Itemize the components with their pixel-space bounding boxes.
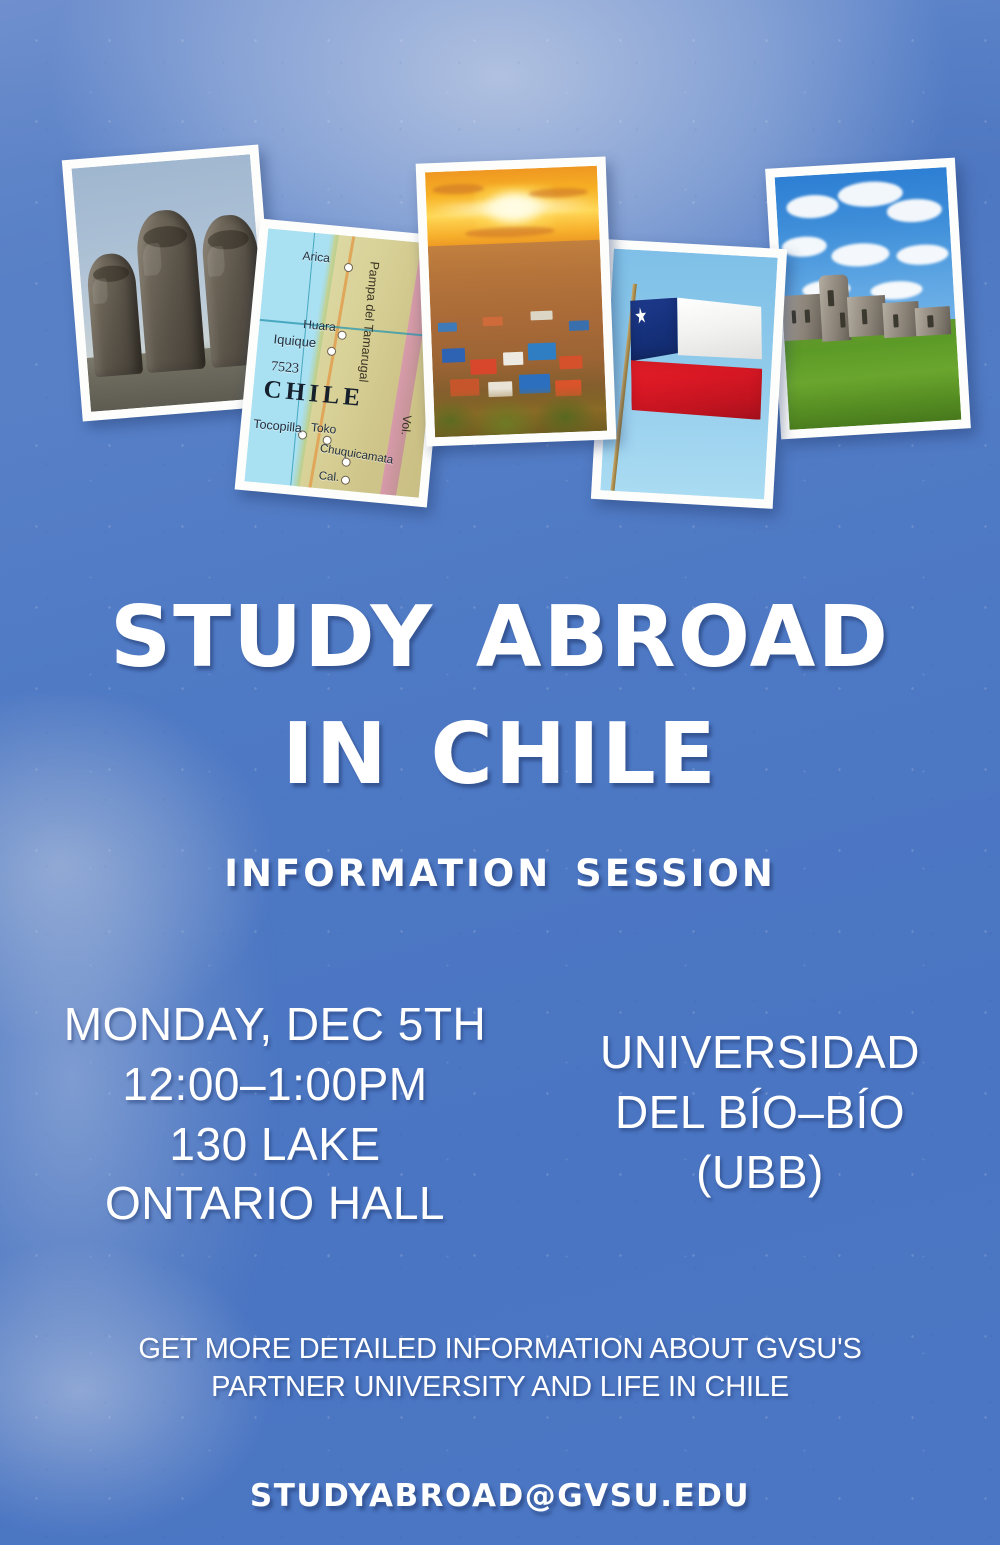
flag-blue-canton: [630, 297, 678, 361]
blurb-line2: PARTNER UNIVERSITY AND LIFE IN CHILE: [60, 1368, 940, 1406]
event-details-right: UNIVERSIDAD DEL BÍO–BÍO (UBB): [560, 995, 960, 1202]
castle-window: [893, 314, 899, 327]
city-house: [470, 358, 496, 374]
city-house: [559, 355, 582, 369]
city-house: [438, 322, 457, 332]
castle-window: [928, 315, 934, 328]
partner-university-line1: UNIVERSIDAD: [560, 1023, 960, 1083]
photo-valparaiso-cityscape: [416, 156, 617, 446]
city-house: [442, 348, 465, 362]
castle-tower-main: [818, 274, 851, 341]
photo-chilean-flag: [591, 239, 787, 509]
map-label-huara: Huara: [303, 317, 337, 334]
map-label-arica: Arica: [302, 248, 331, 265]
event-details-left: MONDAY, DEC 5TH 12:00–1:00PM 130 LAKE ON…: [40, 995, 510, 1234]
map-label-toko: Toko: [310, 420, 337, 436]
flag-white-band: [677, 296, 762, 362]
poster-title-line2: IN CHILE: [0, 712, 1000, 797]
blurb-line1: GET MORE DETAILED INFORMATION ABOUT GVSU…: [60, 1330, 940, 1368]
partner-university-abbr: (UBB): [560, 1143, 960, 1203]
event-time: 12:00–1:00PM: [40, 1055, 510, 1115]
castle-wall-middle: [847, 295, 887, 338]
poster-subtitle: INFORMATION SESSION: [0, 852, 1000, 895]
city-house: [530, 310, 553, 320]
city-house: [482, 316, 503, 326]
city-vegetation: [428, 385, 607, 438]
partner-university-line2: DEL BÍO–BÍO: [560, 1083, 960, 1143]
castle-photo-content: [775, 167, 962, 430]
castle-window: [828, 290, 834, 305]
poster-blurb: GET MORE DETAILED INFORMATION ABOUT GVSU…: [60, 1330, 940, 1407]
map-volcano-label: Vol.: [398, 414, 414, 435]
event-building: ONTARIO HALL: [40, 1174, 510, 1234]
city-house: [528, 343, 556, 361]
event-room: 130 LAKE: [40, 1115, 510, 1175]
flag-star-icon: [634, 306, 648, 325]
event-date: MONDAY, DEC 5TH: [40, 995, 510, 1055]
map-dot-arica: [343, 262, 353, 272]
castle-wall-left: [778, 294, 825, 342]
castle-window: [840, 313, 846, 328]
city-house: [568, 321, 589, 331]
poster-title-line1: STUDY ABROAD: [0, 595, 1000, 680]
flag-photo-content: [600, 249, 777, 500]
flag-cloth: [630, 296, 763, 419]
event-details: MONDAY, DEC 5TH 12:00–1:00PM 130 LAKE ON…: [40, 995, 960, 1234]
flag-red-band: [631, 354, 763, 421]
poster-root: Arica Huara Iquique Tocopilla Toko Chuqu…: [0, 0, 1000, 1545]
photo-castle-ruins: [765, 158, 971, 440]
map-photo-content: Arica Huara Iquique Tocopilla Toko Chuqu…: [244, 228, 442, 497]
moai-photo-content: [72, 154, 270, 412]
castle-window: [805, 310, 810, 323]
castle-wall-right: [882, 301, 920, 338]
city-photo-content: [425, 166, 607, 437]
city-buildings: [428, 240, 607, 437]
castle-window: [791, 310, 796, 323]
contact-email[interactable]: STUDYABROAD@GVSU.EDU: [0, 1478, 1000, 1514]
city-house: [502, 352, 523, 366]
map-elevation-7523: 7523: [270, 359, 299, 378]
map-label-cal: Cal.: [318, 470, 339, 484]
